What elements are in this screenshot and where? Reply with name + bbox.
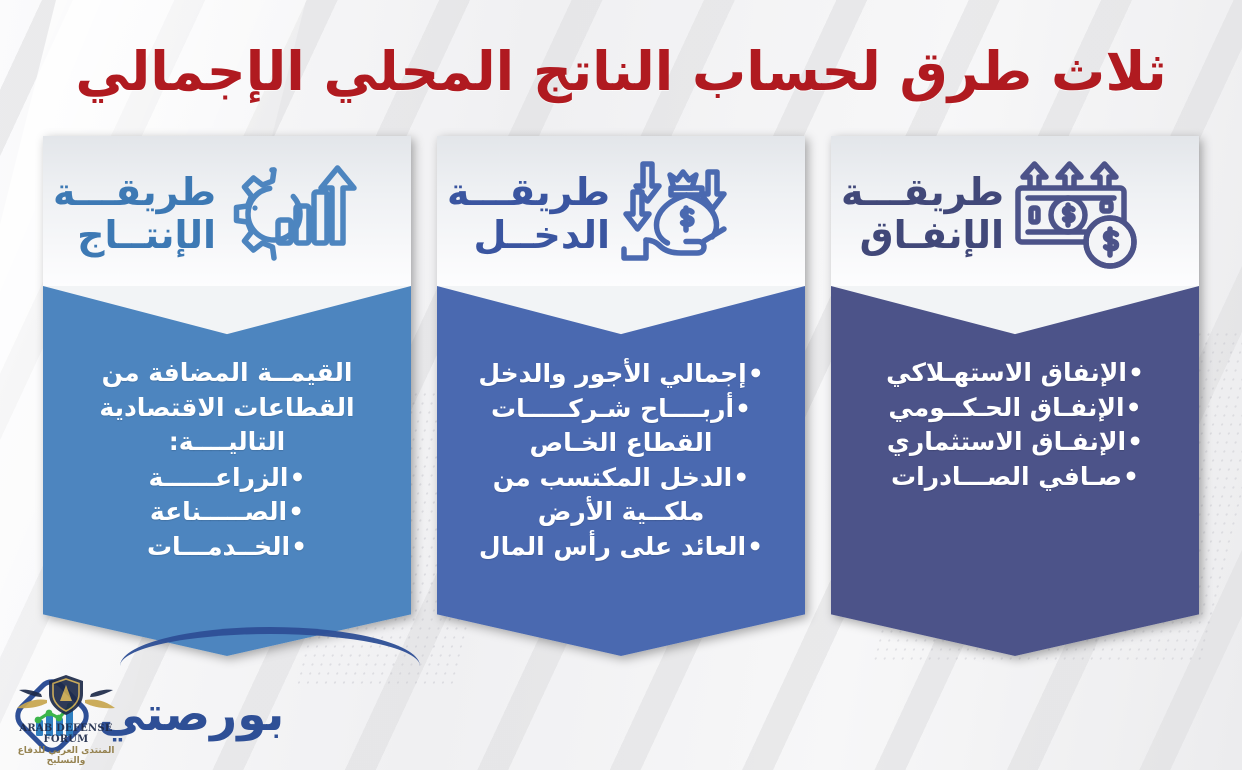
panel-income-method: طريقـــة الدخــل <box>437 136 805 656</box>
list-item: الإنفاق الاستهـلاكي <box>853 356 1177 391</box>
watermark-arabic-text: المنتدى العربي للدفاع والتسليح <box>6 746 126 766</box>
footer: بورصتي ARAB DEFENSE FORUM المنتدى العربي… <box>0 658 1242 770</box>
panel-title-line2: الإنتــاج <box>53 214 216 257</box>
list-item: الإنفـاق الحـكــومي <box>853 391 1177 426</box>
panel-production-method: طريقـــة الإنتــاج القيمــة المضافة من ا… <box>43 136 411 656</box>
watermark-english-text: ARAB DEFENSE FORUM <box>6 723 126 745</box>
panel-title: طريقـــة الإنفـاق <box>841 171 1004 256</box>
panel-title-line1: طريقـــة <box>447 171 610 214</box>
money-bag-hand-down-arrows-icon <box>616 158 748 270</box>
list-item: الخــدمـــات <box>65 530 389 565</box>
banknote-coin-up-arrows-icon <box>1010 158 1142 270</box>
panel-shape: طريقـــة الدخــل <box>437 136 805 656</box>
panel-title-line2: الدخــل <box>447 214 610 257</box>
shield-crest-icon <box>11 672 121 718</box>
panel-title: طريقـــة الإنتــاج <box>53 171 216 256</box>
list-item: الدخل المكتسب من ملكــية الأرض <box>459 461 783 530</box>
gear-bar-chart-up-arrow-icon <box>222 158 362 270</box>
panel-title-line1: طريقـــة <box>53 171 216 214</box>
list-item: إجمالي الأجور والدخل <box>459 357 783 392</box>
panel-bullet-list: الزراعــــــة الصـــــناعة الخــدمـــات <box>65 461 389 565</box>
panel-title: طريقـــة الدخــل <box>447 171 610 256</box>
panel-title-line2: الإنفـاق <box>841 214 1004 257</box>
list-item: العائد على رأس المال <box>459 530 783 565</box>
page-title: ثلاث طرق لحساب الناتج المحلي الإجمالي <box>0 44 1242 100</box>
list-item: أربــــاح شـركـــــات القطاع الخـاص <box>459 392 783 461</box>
panel-title-line1: طريقـــة <box>841 171 1004 214</box>
methods-panel-row: طريقـــة الإنفـاق <box>0 136 1242 656</box>
panel-body: إجمالي الأجور والدخل أربــــاح شـركـــــ… <box>437 286 805 656</box>
panel-shape: طريقـــة الإنتــاج القيمــة المضافة من ا… <box>43 136 411 656</box>
panel-expenditure-method: طريقـــة الإنفـاق <box>831 136 1199 656</box>
list-item: الإنفـاق الاستثماري <box>853 425 1177 460</box>
panel-header: طريقـــة الإنتــاج <box>43 136 411 286</box>
panel-bullet-list: الإنفاق الاستهـلاكي الإنفـاق الحـكــومي … <box>853 356 1177 494</box>
panel-shape: طريقـــة الإنفـاق <box>831 136 1199 656</box>
panel-header: طريقـــة الدخــل <box>437 136 805 286</box>
panel-intro: القيمــة المضافة من القطاعات الاقتصادية … <box>65 356 389 460</box>
list-item: الصـــــناعة <box>65 495 389 530</box>
panel-body: الإنفاق الاستهـلاكي الإنفـاق الحـكــومي … <box>831 286 1199 656</box>
list-item: صـافي الصـــادرات <box>853 460 1177 495</box>
list-item: الزراعــــــة <box>65 461 389 496</box>
panel-body: القيمــة المضافة من القطاعات الاقتصادية … <box>43 286 411 656</box>
watermark-arab-defense-forum: ARAB DEFENSE FORUM المنتدى العربي للدفاع… <box>6 672 126 766</box>
panel-header: طريقـــة الإنفـاق <box>831 136 1199 286</box>
panel-bullet-list: إجمالي الأجور والدخل أربــــاح شـركـــــ… <box>459 357 783 564</box>
